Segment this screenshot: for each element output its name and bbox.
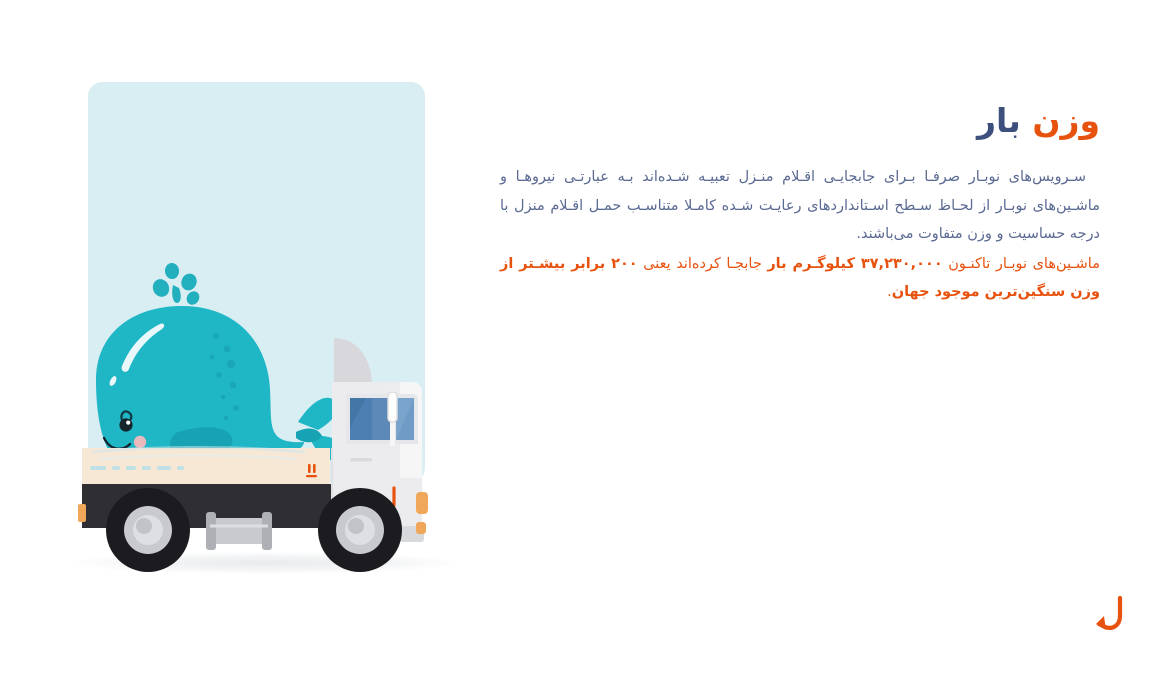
cartoon-whale [96,262,348,466]
page-title-accent: وزن [1032,101,1100,140]
cargo-fin [334,338,372,382]
illustration-svg [60,60,460,580]
water-spout [150,262,202,307]
page-title: وزن بار [500,100,1100,141]
accent-lead: ماشـین‌های نوبـار تاکنـون [943,256,1100,272]
side-marker [416,522,426,534]
accent-middle: جابجـا کرده‌اند یعنی [638,256,768,272]
truck-bed [82,448,330,484]
front-wheel [318,488,402,572]
next-arrow-button[interactable] [1080,588,1136,644]
body-paragraph: سـرویس‌های نوبـار صرفـا بـرای جابجایـی ا… [500,163,1100,248]
cab-window [346,394,418,444]
arrow-down-left-icon [1080,588,1136,644]
rear-marker-light [78,504,86,522]
headlight [416,492,428,514]
content-column: وزن بار سـرویس‌های نوبـار صرفـا بـرای جا… [500,100,1100,307]
whale-on-truck-illustration [60,60,460,580]
rear-wheel [106,488,190,572]
slide-root: وزن بار سـرویس‌های نوبـار صرفـا بـرای جا… [0,0,1160,680]
accent-paragraph: ماشـین‌های نوبـار تاکنـون ۳۷,۲۳۰,۰۰۰ کیل… [500,250,1100,307]
stat-weight: ۳۷,۲۳۰,۰۰۰ کیلوگـرم بار [767,256,942,272]
page-title-rest: بار [977,101,1032,140]
